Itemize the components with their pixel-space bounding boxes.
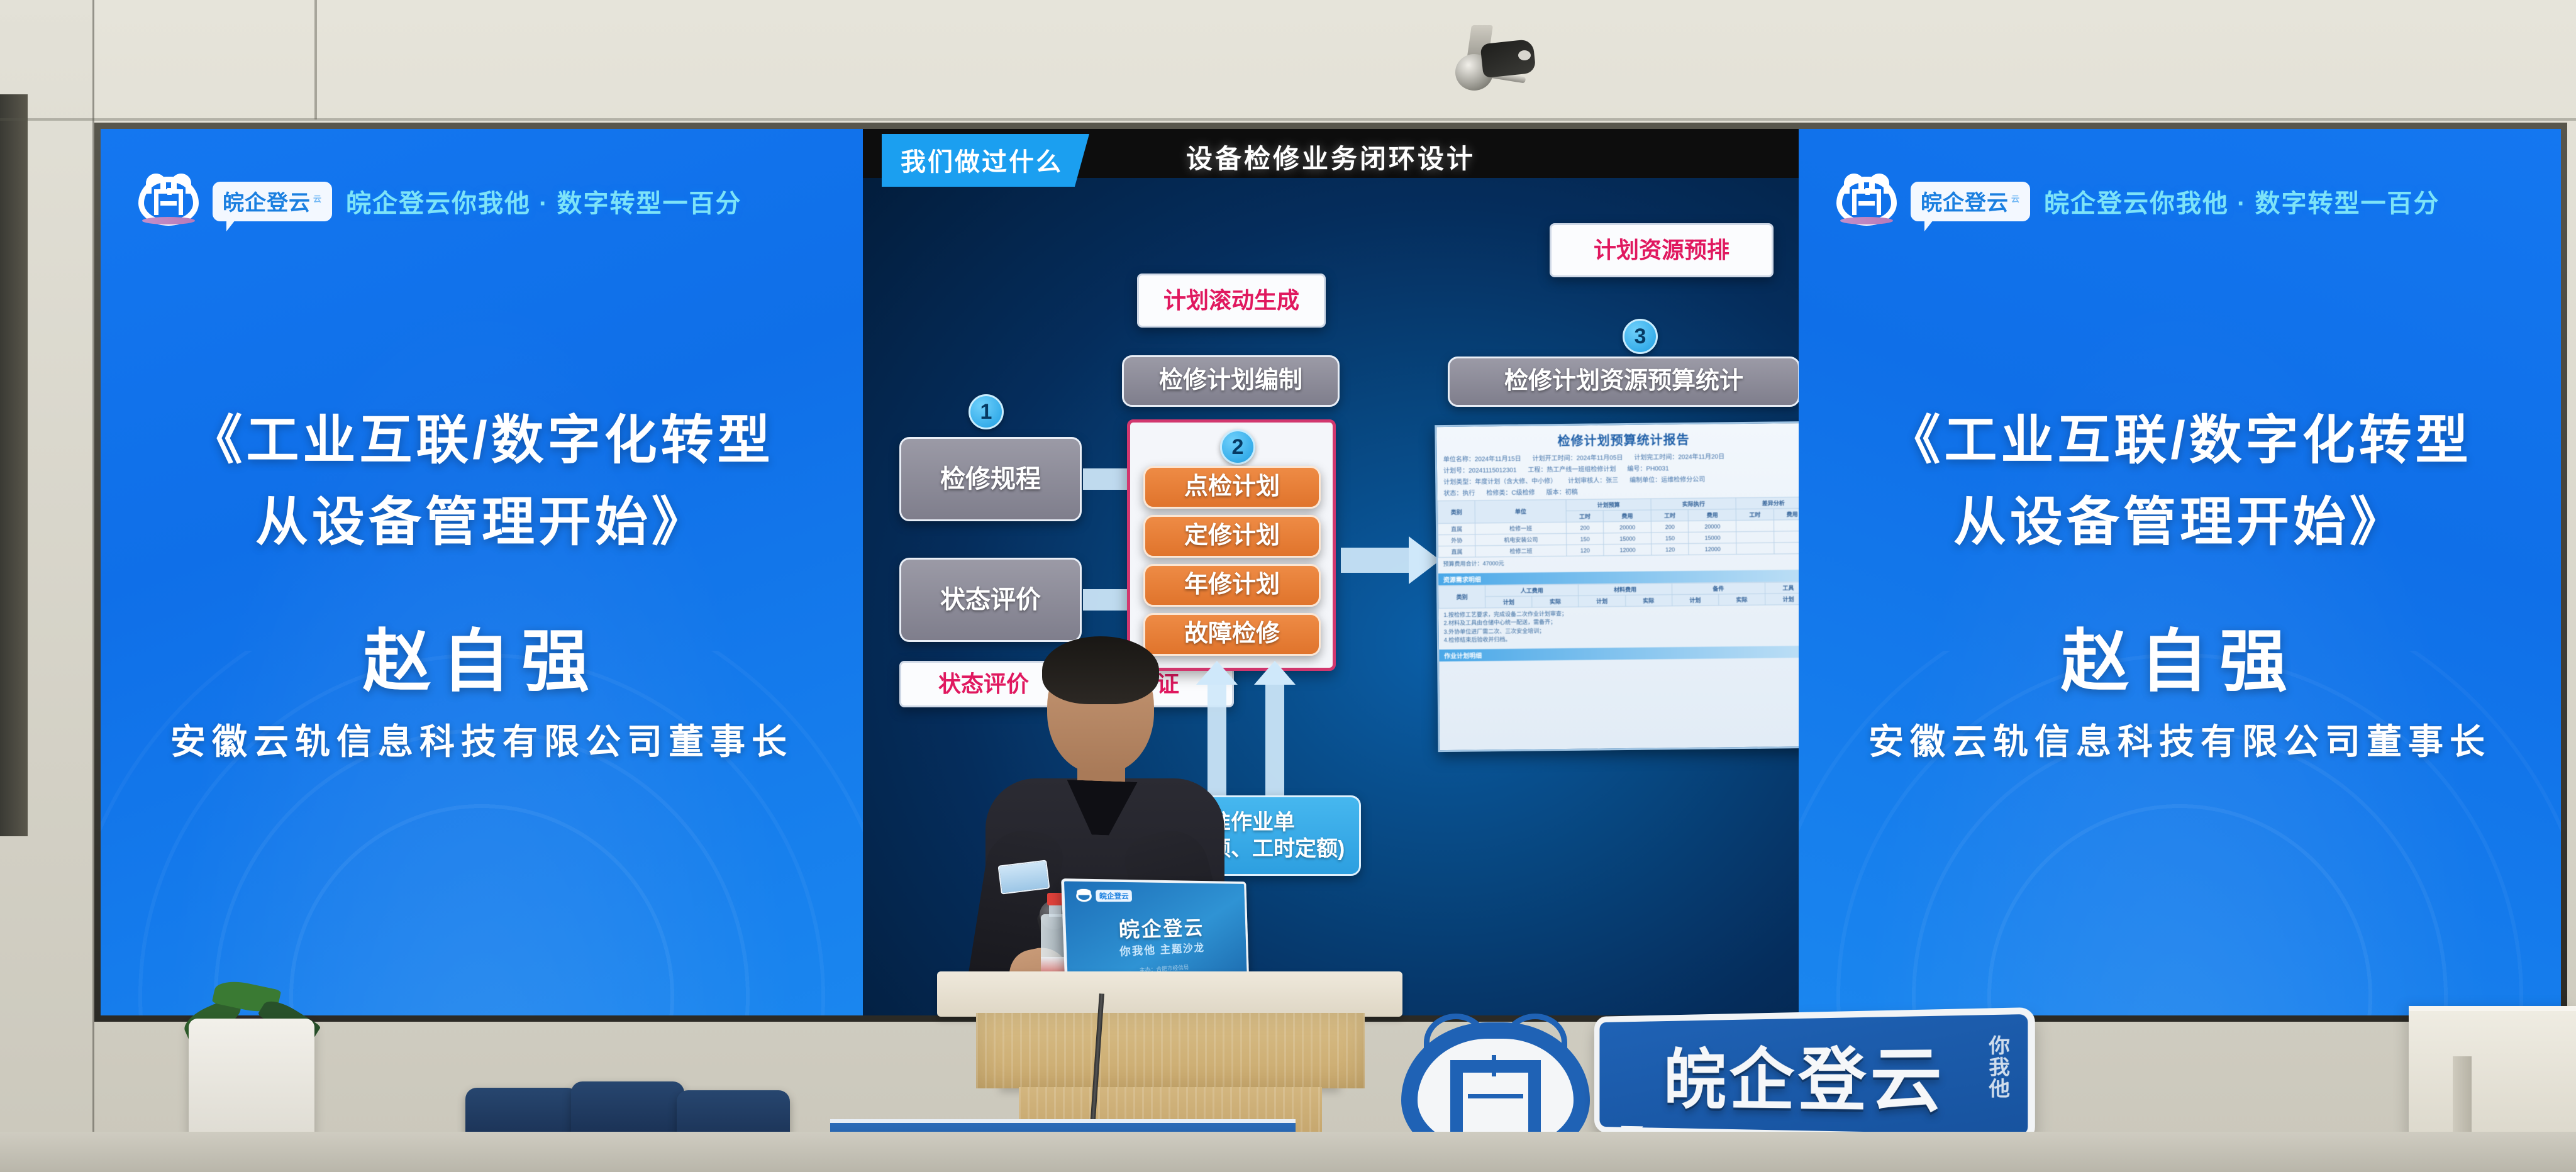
report-cell: [1736, 543, 1774, 555]
right-title-panel: 皖企登云云 皖企登云你我他 · 数字转型一百分 《工业互联/数字化转型 从设备管…: [1799, 129, 2561, 1015]
left-brandbar: 皖企登云云 皖企登云你我他 · 数字转型一百分: [138, 177, 742, 226]
presenter-name-badge: [997, 860, 1050, 894]
report-meta-cell: 计划号：20241115012301: [1443, 465, 1517, 475]
laptop-brand-pill: 皖企登云: [1096, 890, 1132, 902]
report-sub-col: 工时: [1651, 509, 1688, 521]
report-cell: 外协: [1438, 534, 1475, 546]
left-speaker-name: 赵自强: [101, 607, 863, 705]
report-meta-cell: 状态：执行: [1443, 487, 1475, 497]
left-panel-ring-decor: [101, 651, 863, 1015]
report-meta-cell: 检修类：C级检修: [1486, 487, 1535, 497]
right-title-line1: 《工业互联/数字化转型: [1824, 399, 2536, 481]
node-point-check-plan: 点检计划: [1143, 466, 1321, 509]
report-col-header: 单位: [1475, 499, 1566, 523]
step-badge-3: 3: [1623, 319, 1658, 354]
door-edge-strip: [0, 94, 28, 836]
left-title-line1: 《工业互联/数字化转型: [126, 399, 838, 481]
report-col-group: 工具: [1765, 582, 1799, 594]
report-cell: 200: [1652, 521, 1689, 533]
report-cell: 200: [1566, 522, 1603, 534]
report-sub-col: 实际: [1625, 594, 1672, 606]
report-sub-col: 计划: [1765, 593, 1799, 605]
report-cell: 直属: [1438, 523, 1475, 535]
signage-plate: 皖企登云 你我他: [1594, 1007, 2035, 1142]
arrow-mes-up: [1265, 682, 1284, 795]
report-cell: [1774, 531, 1799, 543]
report-cell: [1736, 531, 1774, 543]
report-sub-col: 计划: [1579, 595, 1625, 607]
conference-room-scene: 皖企登云云 皖企登云你我他 · 数字转型一百分 《工业互联/数字化转型 从设备管…: [0, 0, 2576, 1172]
right-speaker-name: 赵自强: [1799, 607, 2561, 705]
report-cell: 120: [1567, 545, 1604, 556]
report-col-group: 人工费用: [1485, 584, 1579, 597]
right-brandbar: 皖企登云云 皖企登云你我他 · 数字转型一百分: [1836, 177, 2440, 226]
report-meta-cell: 计划类型：年度计划（含大修、中小修）: [1443, 475, 1557, 486]
arrow-head-mes: [1254, 661, 1296, 685]
left-title-panel: 皖企登云云 皖企登云你我他 · 数字转型一百分 《工业互联/数字化转型 从设备管…: [101, 129, 863, 1015]
lectern-front-panel: [976, 1013, 1365, 1088]
report-meta-cell: 计划开工时间：2024年11月05日: [1533, 452, 1623, 463]
report-cell: 15000: [1604, 533, 1652, 545]
lectern-top-surface: [937, 971, 1402, 1017]
presenter-hair: [1042, 636, 1159, 704]
node-annual-repair-plan: 年修计划: [1143, 564, 1321, 607]
report-col-header: 类别: [1438, 500, 1475, 524]
report-cell: 20000: [1604, 521, 1652, 533]
bottle-cap: [1047, 893, 1063, 905]
report-meta-cell: 编制单位：运维检修分公司: [1629, 474, 1705, 484]
report-cell: 150: [1652, 532, 1689, 544]
report-cell: 12000: [1689, 543, 1736, 555]
report-meta-cell: 版本：初稿: [1546, 487, 1578, 497]
brand-pill-badge: 皖企登云云: [1911, 182, 2030, 221]
report-col-header: 类别: [1438, 585, 1485, 608]
report-cell: [1736, 520, 1774, 532]
report-sub-col: 实际: [1532, 595, 1579, 607]
brand-pill-sub: 云: [313, 194, 322, 204]
embedded-report-screenshot: 检修计划预算统计报告 单位名称：2024年11月15日计划开工时间：2024年1…: [1435, 421, 1799, 752]
node-resource-budget-statistics: 检修计划资源预算统计: [1448, 357, 1799, 407]
report-resource-table: 类别 人工费用 材料费用 备件 工具 计划 实际 计划 实际 计划: [1438, 581, 1799, 608]
brand-pill-badge: 皖企登云云: [213, 182, 332, 221]
brand-pill-label: 皖企登云: [1921, 191, 2009, 215]
ceiling-security-camera: [1440, 25, 1547, 101]
report-sub-col: 计划: [1672, 594, 1718, 605]
node-scheduled-repair-plan: 定修计划: [1143, 515, 1321, 558]
report-cell: 直属: [1438, 546, 1475, 558]
brand-tagline: 皖企登云你我他 · 数字转型一百分: [346, 183, 742, 219]
report-section-3: 作业计划明细: [1439, 645, 1799, 661]
arrow-plans-to-report: [1341, 548, 1410, 573]
signage-text: 皖企登云: [1663, 1023, 1946, 1126]
report-cell: 150: [1567, 533, 1604, 545]
wall-seam-vertical: [314, 0, 317, 119]
brand-tagline: 皖企登云你我他 · 数字转型一百分: [2044, 183, 2440, 219]
report-col-group: 材料费用: [1579, 583, 1672, 595]
floor-band: [0, 1132, 2576, 1172]
brand-pill-sub: 云: [2011, 194, 2020, 204]
report-col-group: 实际执行: [1651, 498, 1736, 510]
right-panel-title: 《工业互联/数字化转型 从设备管理开始》: [1799, 399, 2561, 563]
left-speaker-role: 安徽云轨信息科技有限公司董事长: [101, 714, 863, 765]
camera-lens-icon: [1518, 50, 1531, 60]
report-meta-cell: 编号：PH0031: [1627, 463, 1668, 473]
report-cell: 120: [1652, 543, 1689, 555]
signage-subtext: 你我他: [1981, 1035, 2012, 1100]
report-col-group: 备件: [1672, 582, 1765, 595]
report-cell: [1774, 519, 1799, 531]
callout-rolling-plan-generation: 计划滚动生成: [1137, 274, 1326, 328]
report-sub-col: 计划: [1485, 596, 1532, 608]
report-sub-col: 工时: [1736, 509, 1774, 521]
report-title: 检修计划预算统计报告: [1436, 423, 1799, 453]
left-panel-title: 《工业互联/数字化转型 从设备管理开始》: [101, 399, 863, 563]
cloud-house-logo-icon: [1076, 890, 1092, 902]
laptop-brand-logo: 皖企登云: [1076, 890, 1132, 902]
brand-pill-label: 皖企登云: [223, 191, 311, 215]
report-cell: [1774, 542, 1799, 554]
node-state-evaluation: 状态评价: [899, 558, 1082, 642]
report-cell: 12000: [1604, 544, 1652, 556]
slide-title: 设备检修业务闭环设计: [863, 138, 1799, 176]
report-meta-cell: 计划完工时间：2024年11月20日: [1634, 451, 1724, 462]
report-cell: 检修二班: [1475, 545, 1567, 557]
report-notes: 1.按检修工艺要求，完成设备二次作业计划审查； 2.材料及工具由仓储中心统一配送…: [1438, 604, 1799, 647]
right-speaker-role: 安徽云轨信息科技有限公司董事长: [1799, 714, 2561, 765]
wall-seam-horizontal: [0, 118, 2576, 121]
report-meta-cell: 单位名称：2024年11月15日: [1443, 453, 1521, 463]
report-sub-col: 费用: [1603, 510, 1651, 522]
report-meta-cell: 计划审核人：张三: [1568, 475, 1618, 485]
report-cell: 15000: [1689, 532, 1736, 544]
report-meta: 单位名称：2024年11月15日计划开工时间：2024年11月05日计划完工时间…: [1437, 449, 1799, 500]
right-title-line2: 从设备管理开始》: [1824, 481, 2536, 563]
callout-resource-pre-scheduling: 计划资源预排: [1550, 223, 1774, 277]
node-plan-compilation: 检修计划编制: [1122, 355, 1340, 407]
right-panel-ring-decor: [1799, 651, 2561, 1015]
report-sub-col: 实际: [1718, 594, 1765, 605]
report-sub-col: 工时: [1566, 511, 1603, 522]
left-title-line2: 从设备管理开始》: [126, 481, 838, 563]
report-budget-table: 类别 单位 计划预算 实际执行 差异分析 工时 费用 工时 费用 工时: [1438, 497, 1799, 558]
node-inspect-rules: 检修规程: [899, 437, 1082, 521]
cloud-house-logo-icon: [138, 177, 199, 226]
step-badge-2: 2: [1220, 429, 1255, 465]
cloud-house-logo-icon: [1836, 177, 1897, 226]
report-cell: 检修一班: [1475, 522, 1567, 534]
report-col-group: 差异分析: [1736, 497, 1799, 509]
report-cell: 20000: [1689, 521, 1736, 533]
report-cell: 机电安装公司: [1475, 533, 1567, 546]
report-col-group: 计划预算: [1566, 499, 1651, 511]
report-sub-col: 费用: [1774, 508, 1799, 520]
led-video-wall: 皖企登云云 皖企登云你我他 · 数字转型一百分 《工业互联/数字化转型 从设备管…: [94, 123, 2567, 1022]
step-badge-1: 1: [969, 394, 1004, 429]
led-screen-surface: 皖企登云云 皖企登云你我他 · 数字转型一百分 《工业互联/数字化转型 从设备管…: [101, 129, 2561, 1015]
report-meta-cell: 工程：热工产线一班组检修计划: [1528, 463, 1616, 473]
report-sub-col: 费用: [1689, 509, 1736, 521]
